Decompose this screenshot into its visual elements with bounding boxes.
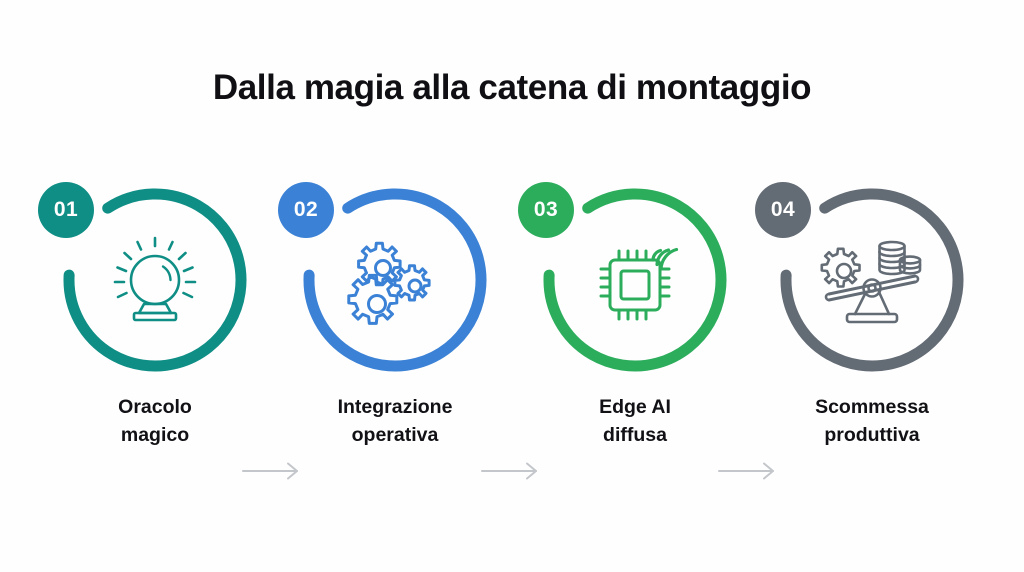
page-title: Dalla magia alla catena di montaggio [0, 68, 1024, 108]
crystal-ball-icon [100, 225, 210, 335]
step-2-label-line2: operativa [275, 422, 515, 450]
step-1-number-badge: 01 [38, 182, 94, 238]
process-step-4[interactable]: 04 Scommessa produttiva [752, 178, 992, 478]
process-steps-row: 01 Oracolo magico [0, 178, 1024, 478]
step-2-label: Integrazione operativa [275, 394, 515, 449]
step-4-label-line1: Scommessa [752, 394, 992, 422]
infographic-canvas: Dalla magia alla catena di montaggio [0, 0, 1024, 572]
step-4-label-line2: produttiva [752, 422, 992, 450]
step-2-label-line1: Integrazione [275, 394, 515, 422]
process-step-1[interactable]: 01 Oracolo magico [35, 178, 275, 478]
step-1-label: Oracolo magico [35, 394, 275, 449]
step-4-number-badge: 04 [755, 182, 811, 238]
step-1-label-line2: magico [35, 422, 275, 450]
step-3-label-line1: Edge AI [515, 394, 755, 422]
balance-scale-gear-coins-icon [817, 225, 927, 335]
step-2-number-badge: 02 [278, 182, 334, 238]
cpu-chip-wireless-icon [580, 225, 690, 335]
process-step-2[interactable]: 02 Integrazione operativa [275, 178, 515, 478]
step-4-label: Scommessa produttiva [752, 394, 992, 449]
step-1-label-line1: Oracolo [35, 394, 275, 422]
step-3-number-badge: 03 [518, 182, 574, 238]
step-3-label: Edge AI diffusa [515, 394, 755, 449]
gears-icon [340, 225, 450, 335]
step-3-label-line2: diffusa [515, 422, 755, 450]
process-step-3[interactable]: 03 Edge AI diffusa [515, 178, 755, 478]
